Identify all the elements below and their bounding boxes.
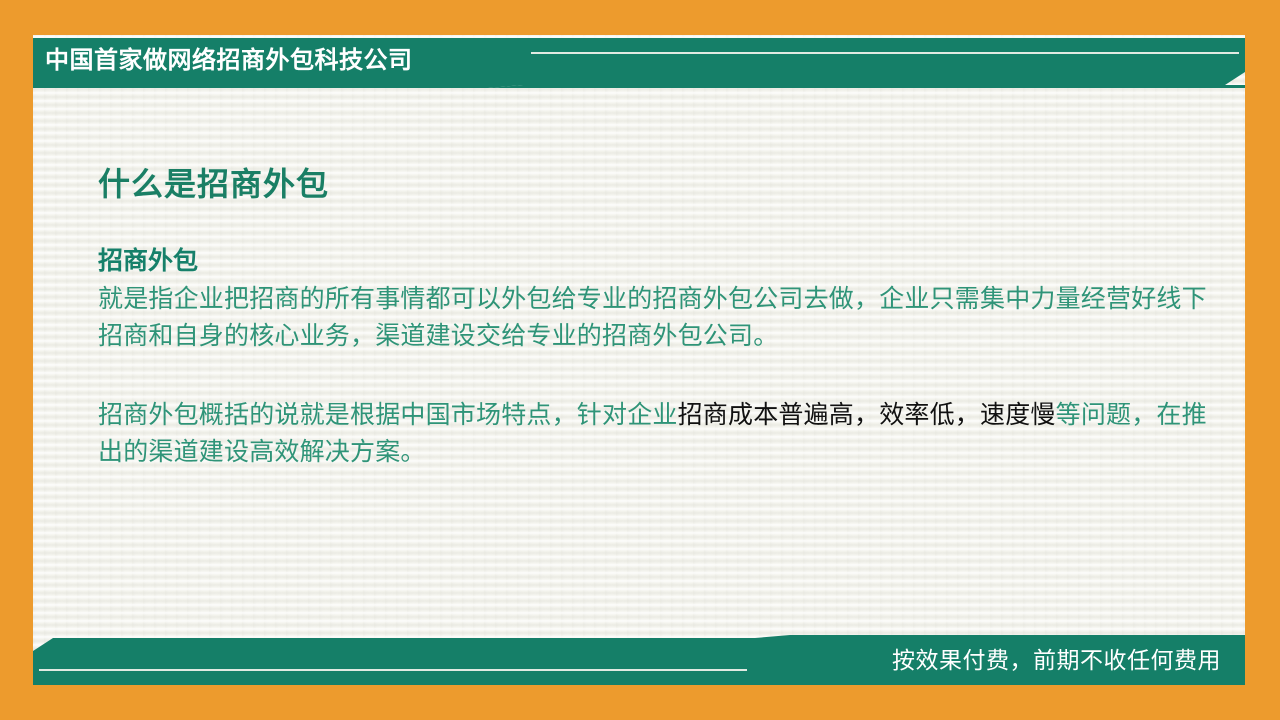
paragraph-definition: 就是指企业把招商的所有事情都可以外包给专业的招商外包公司去做，企业只需集中力量经… [98,281,1208,355]
paragraph-summary-part1: 招商外包概括的说就是根据中国市场特点，针对企业 [98,401,678,429]
slide-content: 什么是招商外包 招商外包 就是指企业把招商的所有事情都可以外包给专业的招商外包公… [98,165,1208,471]
content-panel: 中国首家做网络招商外包科技公司 什么是招商外包 招商外包 就是指企业把招商的所有… [33,35,1245,685]
paragraph-summary: 招商外包概括的说就是根据中国市场特点，针对企业招商成本普遍高，效率低，速度慢等问… [98,397,1208,471]
paragraph-summary-emphasis: 招商成本普遍高，效率低，速度慢 [678,401,1056,429]
header-title: 中国首家做网络招商外包科技公司 [45,42,413,80]
lead-label: 招商外包 [98,245,1208,279]
page-title: 什么是招商外包 [98,165,1208,203]
slide-root: 中国首家做网络招商外包科技公司 什么是招商外包 招商外包 就是指企业把招商的所有… [0,0,1280,720]
header-hairline [531,52,1239,54]
footer-tagline: 按效果付费，前期不收任何费用 [892,642,1221,678]
footer-hairline [39,669,747,671]
header-band-notch [488,85,1245,88]
